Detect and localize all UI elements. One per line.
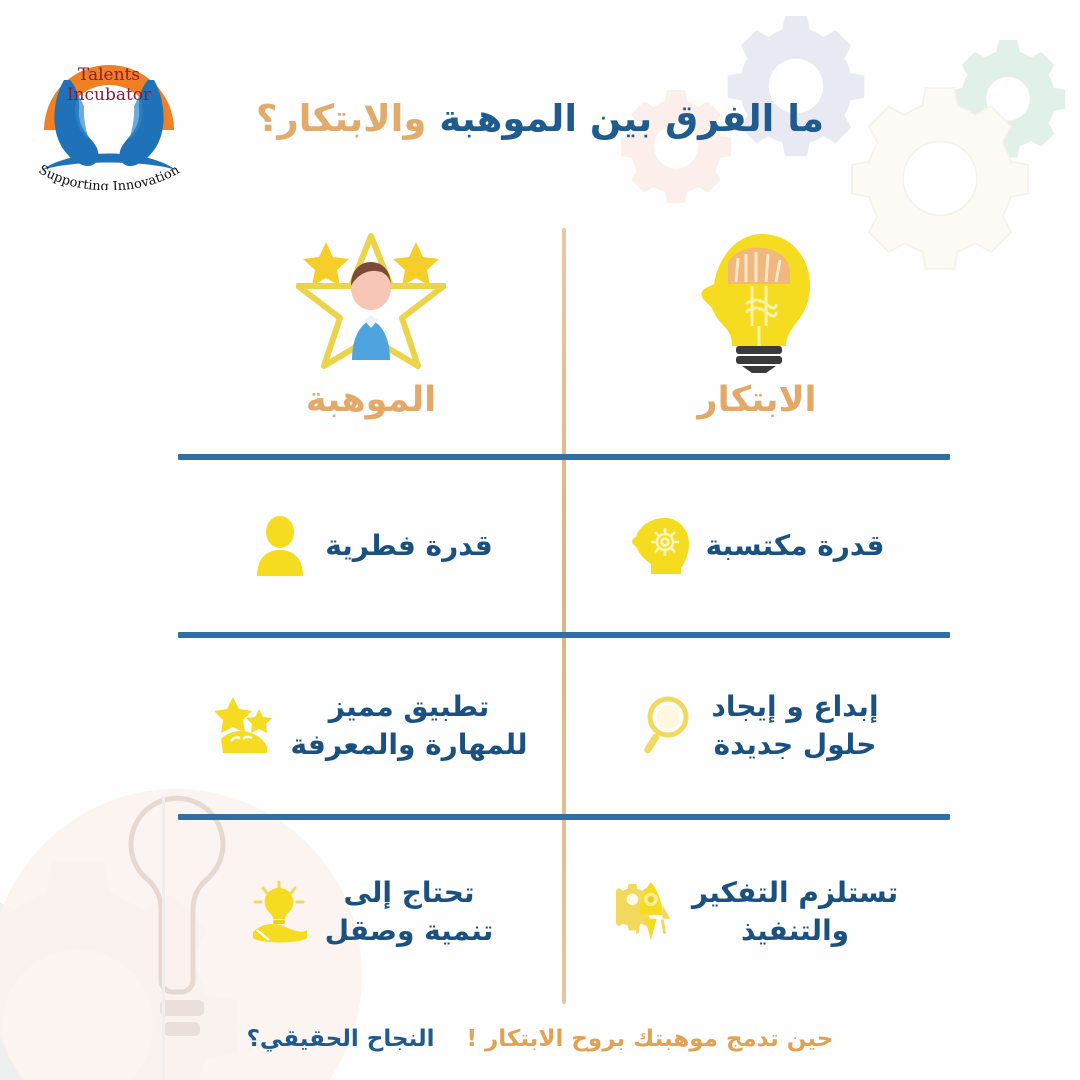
table-row: قدرة فطرية قدرة مكتسبة xyxy=(178,460,950,632)
cell-talent-2-text: تطبيق مميز للمهارة والمعرفة xyxy=(291,688,528,764)
cell-innovation-3-text: تستلزم التفكير والتنفيذ xyxy=(692,874,898,950)
column-header-talent: الموهبة xyxy=(178,224,564,450)
page-title: ما الفرق بين الموهبة والابتكار؟ xyxy=(0,96,1080,142)
lightbulb-head-icon xyxy=(692,224,822,376)
table-header-row: الموهبة xyxy=(178,224,950,450)
table-row: تطبيق مميز للمهارة والمعرفة إبداع و إيجا… xyxy=(178,638,950,814)
head-gear-icon xyxy=(630,515,692,577)
page-title-blue-part: ما الفرق بين الموهبة xyxy=(439,97,824,140)
cell-talent-3-text: تحتاج إلى تنمية وصقل xyxy=(325,874,493,950)
cell-innovation-2-text: إبداع و إيجاد حلول جديدة xyxy=(711,688,878,764)
cell-innovation-1: قدرة مكتسبة xyxy=(564,460,950,632)
star-person-icon xyxy=(296,224,446,376)
cell-talent-1: قدرة فطرية xyxy=(178,460,564,632)
cell-talent-3: تحتاج إلى تنمية وصقل xyxy=(178,820,564,1004)
cell-innovation-3: تستلزم التفكير والتنفيذ xyxy=(564,820,950,1004)
cell-innovation-1-text: قدرة مكتسبة xyxy=(706,527,885,565)
logo-title-line1: Talents xyxy=(78,65,140,85)
footer-blue-part: النجاح الحقيقي؟ xyxy=(247,1026,435,1052)
column-header-innovation: الابتكار xyxy=(564,224,950,450)
hand-stars-icon xyxy=(215,695,277,757)
magnifier-icon xyxy=(635,695,697,757)
page-title-gold-part: والابتكار؟ xyxy=(256,97,426,140)
column-header-talent-label: الموهبة xyxy=(306,380,436,420)
cell-talent-2: تطبيق مميز للمهارة والمعرفة xyxy=(178,638,564,814)
table-row: تحتاج إلى تنمية وصقل xyxy=(178,820,950,1004)
rocket-gear-icon xyxy=(616,881,678,943)
infographic-poster: Talents Incubator Supporting Innovation … xyxy=(0,0,1080,1080)
person-icon xyxy=(249,515,311,577)
logo-tagline: Supporting Innovation xyxy=(36,162,183,190)
comparison-table: الموهبة xyxy=(178,224,950,1004)
cell-innovation-2: إبداع و إيجاد حلول جديدة xyxy=(564,638,950,814)
hand-bulb-icon xyxy=(249,881,311,943)
column-header-innovation-label: الابتكار xyxy=(697,380,816,420)
footer-gold-part: حين تدمج موهبتك بروح الابتكار ! xyxy=(467,1026,834,1052)
footer-tagline: حين تدمج موهبتك بروح الابتكار ! النجاح ا… xyxy=(0,1026,1080,1052)
cell-talent-1-text: قدرة فطرية xyxy=(325,527,492,565)
logo-swoosh-icon xyxy=(42,154,176,171)
